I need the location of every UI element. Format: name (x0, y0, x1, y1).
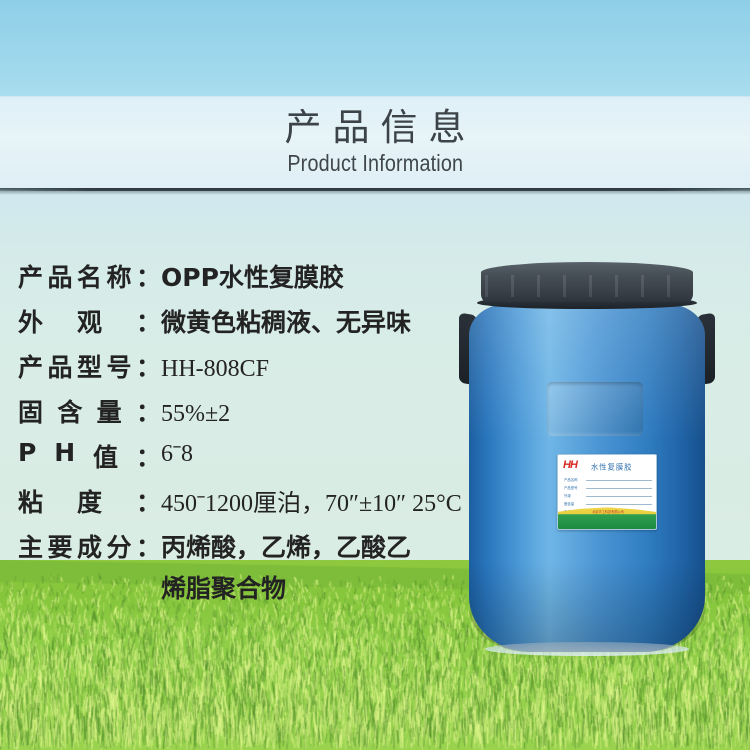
spec-row: 外观：微黄色粘稠液、无异味 (18, 303, 488, 339)
banner-title-english: Product Information (287, 150, 463, 177)
label-row-value (586, 488, 652, 489)
spec-label: 粘度： (18, 483, 161, 519)
label-row-key: 固含量 (564, 501, 584, 508)
spec-label: 产品型号： (18, 348, 161, 384)
spec-value: 450ˉ1200厘泊，70″±10″ 25°C (161, 483, 462, 518)
label-row-value (586, 480, 652, 481)
spec-label: 产品名称： (18, 258, 161, 294)
label-row: 产品名称 (564, 477, 652, 484)
spec-row: 粘度：450ˉ1200厘泊，70″±10″ 25°C (18, 483, 488, 519)
label-row-key: 产品名称 (564, 477, 584, 484)
label-row-value (586, 496, 652, 497)
spec-row: 产品名称：OPP水性复膜胶 (18, 258, 488, 294)
spec-value: 55%±2 (161, 401, 230, 428)
brand-logo: HH (563, 460, 577, 471)
product-label: HH 水性复膜胶 产品名称产品型号外观固含量净重 北京华工科技有限公司 (557, 454, 657, 530)
spec-label: 外观： (18, 303, 161, 339)
spec-row: 主要成分：丙烯酸，乙烯，乙酸乙 (18, 528, 488, 564)
label-row-value (586, 504, 652, 505)
spec-label: PH值： (18, 438, 161, 474)
spec-label: 固含量： (18, 393, 161, 429)
spec-row: 产品型号：HH-808CF (18, 348, 488, 384)
spec-value-continuation: 烯脂聚合物 (161, 569, 488, 605)
banner: 产品信息 Product Information (0, 96, 750, 188)
spec-row: 固含量：55%±2 (18, 393, 488, 429)
product-information-page: 产品信息 Product Information HH 水性复膜胶 产品名称产品… (0, 0, 750, 750)
spec-label: 主要成分： (18, 528, 161, 564)
label-row-key: 外观 (564, 493, 584, 500)
barrel-base (485, 642, 689, 656)
spec-value: 丙烯酸，乙烯，乙酸乙 (161, 528, 411, 564)
spec-value: 微黄色粘稠液、无异味 (161, 303, 411, 339)
label-footer: 北京华工科技有限公司 (558, 509, 657, 514)
label-row-key: 产品型号 (564, 485, 584, 492)
barrel-recessed-panel (547, 382, 643, 436)
barrel-lid (481, 262, 693, 302)
banner-shadow (0, 188, 750, 195)
spec-value: HH-808CF (161, 356, 269, 383)
label-row: 外观 (564, 493, 652, 500)
spec-row: PH值：6ˉ8 (18, 438, 488, 474)
barrel-body: HH 水性复膜胶 产品名称产品型号外观固含量净重 北京华工科技有限公司 (469, 304, 705, 652)
label-title: 水性复膜胶 (591, 462, 632, 472)
banner-title-chinese: 产品信息 (274, 109, 477, 147)
label-row: 产品型号 (564, 485, 652, 492)
spec-value: 6ˉ8 (161, 441, 193, 468)
product-barrel: HH 水性复膜胶 产品名称产品型号外观固含量净重 北京华工科技有限公司 (463, 262, 711, 654)
spec-value: OPP水性复膜胶 (161, 258, 344, 294)
specification-list: 产品名称：OPP水性复膜胶外观：微黄色粘稠液、无异味产品型号：HH-808CF固… (18, 258, 488, 605)
label-row: 固含量 (564, 501, 652, 508)
